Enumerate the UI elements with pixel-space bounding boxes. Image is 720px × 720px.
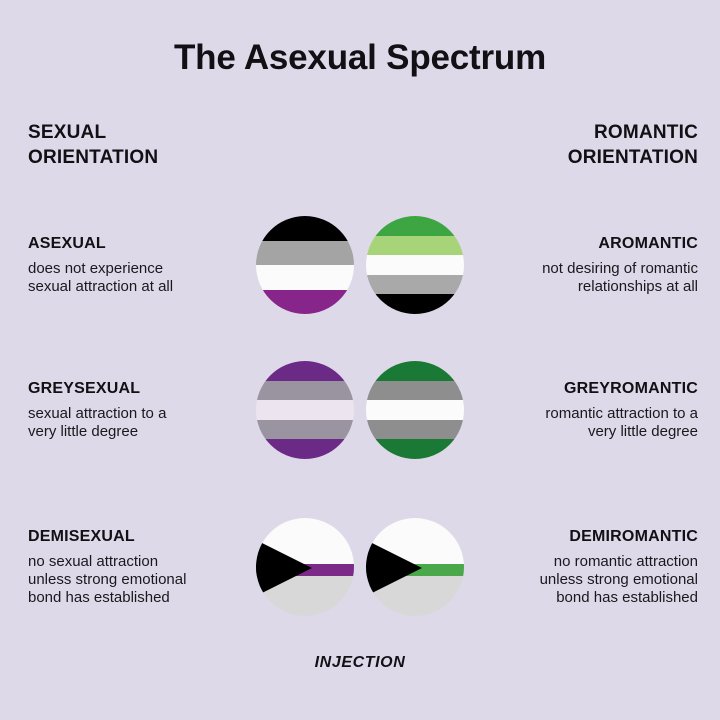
romantic-orientation-column-header: ROMANTIC ORIENTATION (458, 120, 698, 170)
flag-stripe-3 (366, 275, 464, 295)
flag-left-triangle (256, 540, 312, 596)
infographic-canvas: The Asexual Spectrum SEXUAL ORIENTATION … (0, 0, 720, 720)
definition-block-greyromantic: GREYROMANTIC romantic attraction to a ve… (470, 380, 720, 441)
footer-credit: INJECTION (0, 654, 720, 672)
term-description-asexual: does not experience sexual attraction at… (28, 260, 242, 296)
demiromantic-flag (366, 518, 464, 616)
demisexual-flag (256, 518, 354, 616)
spectrum-row-greysexual-greyromantic: GREYSEXUAL sexual attraction to a very l… (0, 355, 720, 465)
flag-stripe-3 (366, 420, 464, 440)
flag-stripe-3 (256, 420, 354, 440)
flag-left-triangle (366, 540, 422, 596)
term-description-aromantic: not desiring of romantic relationships a… (478, 260, 698, 296)
greysexual-flag (256, 361, 354, 459)
term-label-greyromantic: GREYROMANTIC (478, 380, 698, 398)
sexual-orientation-header-line2: ORIENTATION (28, 145, 268, 170)
asexual-flag (256, 216, 354, 314)
flag-stripe-0 (256, 216, 354, 241)
flag-stripe-1 (256, 381, 354, 401)
term-description-greyromantic: romantic attraction to a very little deg… (478, 405, 698, 441)
flag-stripe-2 (256, 265, 354, 290)
flag-stripe-1 (256, 241, 354, 266)
aromantic-flag (366, 216, 464, 314)
flag-stripe-4 (366, 294, 464, 314)
romantic-orientation-header-line1: ROMANTIC (458, 120, 698, 145)
definition-block-demisexual: DEMISEXUAL no sexual attraction unless s… (0, 528, 250, 607)
flag-stripe-0 (366, 361, 464, 381)
flag-stripe-2 (256, 400, 354, 420)
flag-stripe-1 (366, 236, 464, 256)
term-description-demisexual: no sexual attraction unless strong emoti… (28, 553, 242, 607)
definition-block-demiromantic: DEMIROMANTIC no romantic attraction unle… (470, 528, 720, 607)
romantic-orientation-header-line2: ORIENTATION (458, 145, 698, 170)
flag-pair-row-2 (250, 361, 470, 459)
spectrum-row-demisexual-demiromantic: DEMISEXUAL no sexual attraction unless s… (0, 512, 720, 622)
sexual-orientation-column-header: SEXUAL ORIENTATION (28, 120, 268, 170)
flag-pair-row-1 (250, 216, 470, 314)
definition-block-asexual: ASEXUAL does not experience sexual attra… (0, 235, 250, 296)
term-label-greysexual: GREYSEXUAL (28, 380, 242, 398)
flag-stripe-0 (366, 216, 464, 236)
sexual-orientation-header-line1: SEXUAL (28, 120, 268, 145)
flag-stripe-1 (366, 381, 464, 401)
definition-block-greysexual: GREYSEXUAL sexual attraction to a very l… (0, 380, 250, 441)
term-description-greysexual: sexual attraction to a very little degre… (28, 405, 242, 441)
flag-stripe-4 (366, 439, 464, 459)
term-label-asexual: ASEXUAL (28, 235, 242, 253)
term-label-demiromantic: DEMIROMANTIC (478, 528, 698, 546)
definition-block-aromantic: AROMANTIC not desiring of romantic relat… (470, 235, 720, 296)
flag-stripe-2 (366, 255, 464, 275)
flag-stripe-2 (366, 400, 464, 420)
flag-stripe-3 (256, 290, 354, 315)
flag-pair-row-3 (250, 518, 470, 616)
flag-stripe-0 (256, 361, 354, 381)
page-title: The Asexual Spectrum (0, 38, 720, 78)
greyromantic-flag (366, 361, 464, 459)
term-label-aromantic: AROMANTIC (478, 235, 698, 253)
term-description-demiromantic: no romantic attraction unless strong emo… (478, 553, 698, 607)
flag-stripe-4 (256, 439, 354, 459)
spectrum-row-asexual-aromantic: ASEXUAL does not experience sexual attra… (0, 210, 720, 320)
term-label-demisexual: DEMISEXUAL (28, 528, 242, 546)
